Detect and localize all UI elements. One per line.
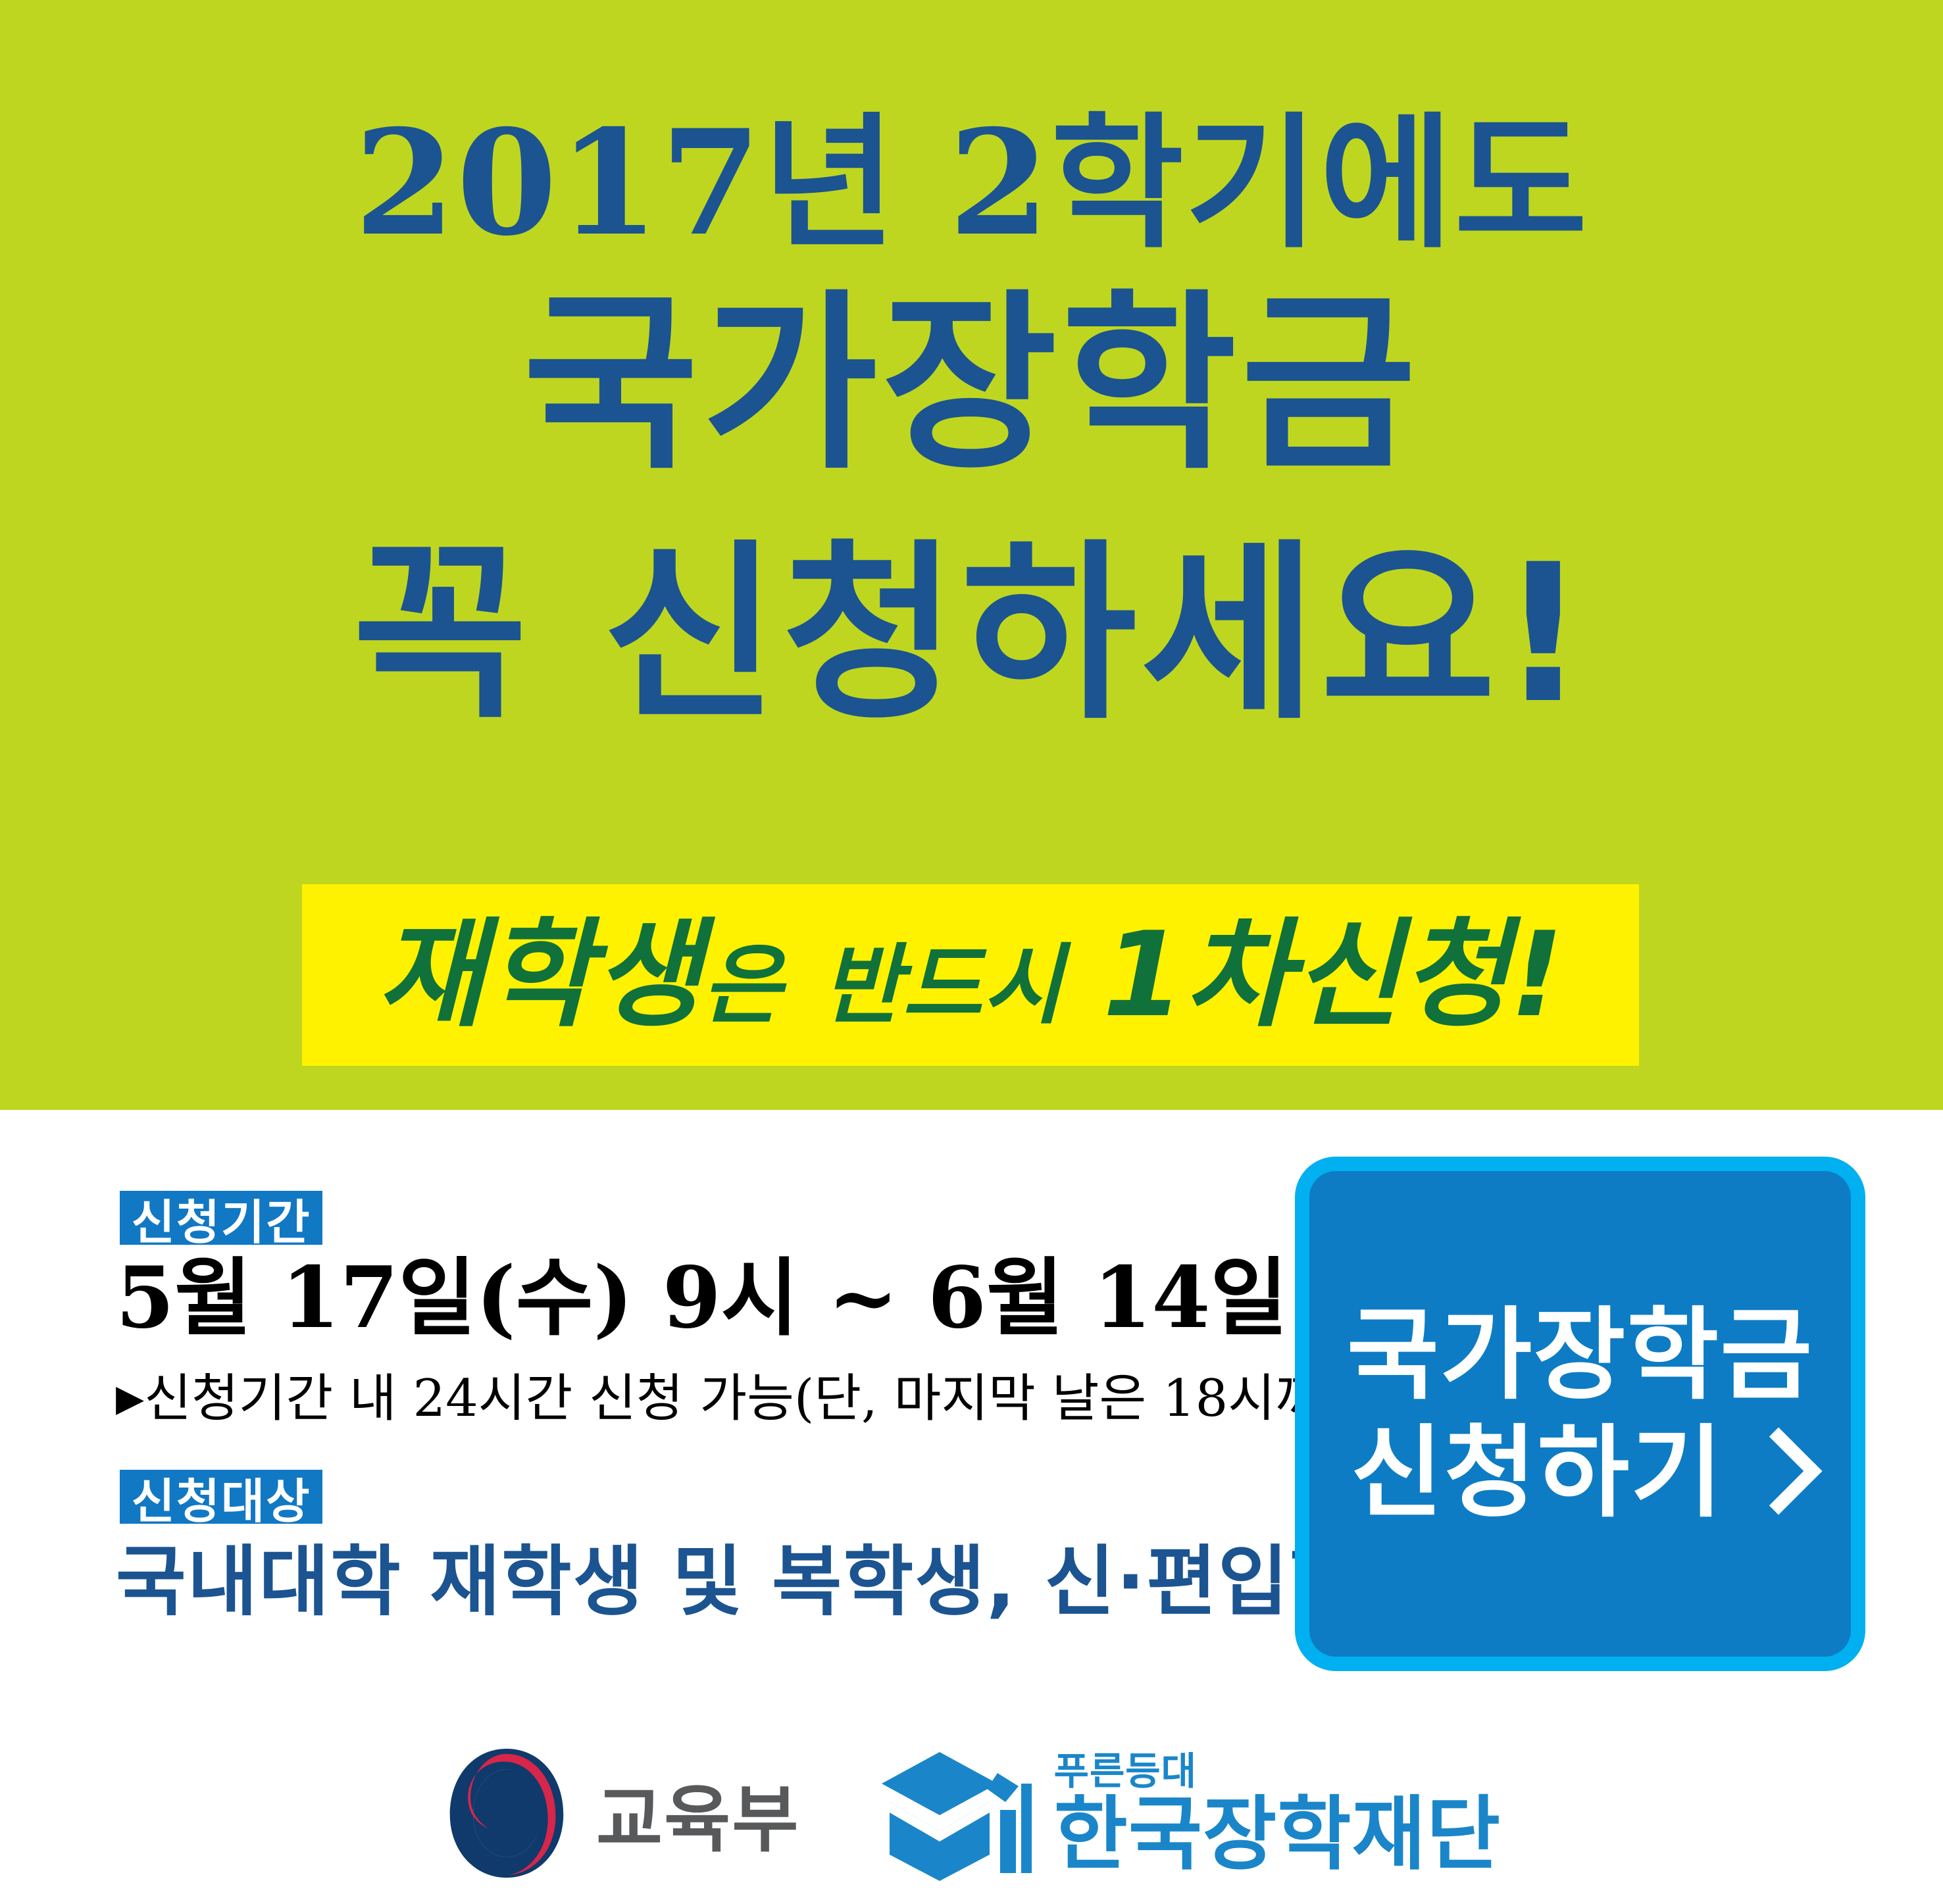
highlight-part-2: 은 (702, 935, 782, 1036)
kosaf-logo: 푸른등대 한국장학재단 (879, 1744, 1501, 1882)
hero-title-line-1: 국가장학금 (0, 289, 1943, 480)
graduation-cap-lighthouse-icon (879, 1744, 1037, 1882)
highlight-part-3: 반드시 (822, 935, 1063, 1036)
apply-button-label: 신청하기 (1351, 1414, 1724, 1532)
application-target-badge: 신청대상 (120, 1470, 322, 1524)
ministry-of-education-name: 교육부 (596, 1761, 800, 1866)
hero-banner: 2017년 2학기에도 국가장학금 꼭 신청하세요! 재학생은 반드시 1차신청… (0, 0, 1943, 1110)
triangle-bullet-icon: ▶ (116, 1377, 144, 1420)
hero-kicker: 2017년 2학기에도 (0, 111, 1943, 255)
highlight-text: 재학생은 반드시 1차신청! (377, 916, 1564, 1034)
korea-government-taegeuk-emblem (442, 1743, 571, 1883)
application-period-note: ▶신청기간 내 24시간 신청 가능(단, 마지막 날은 18시까지) (116, 1373, 1390, 1424)
application-period-note-text: 신청기간 내 24시간 신청 가능(단, 마지막 날은 18시까지) (144, 1369, 1390, 1428)
highlight-part-4: 1차신청! (1103, 907, 1564, 1043)
info-section: 신청기간 5월 17일(수) 9시 ~ 6월 14일(수) 18시 ▶신청기간 … (0, 1110, 1943, 1904)
application-period-badge: 신청기간 (120, 1191, 322, 1245)
scholarship-announcement-poster: 2017년 2학기에도 국가장학금 꼭 신청하세요! 재학생은 반드시 1차신청… (0, 0, 1943, 1904)
hero-title-line-2: 꼭 신청하세요! (0, 539, 1943, 730)
ministry-of-education-logo: 교육부 (442, 1743, 800, 1883)
apply-scholarship-button[interactable]: 국가장학금 신청하기 (1295, 1157, 1865, 1671)
kosaf-name: 한국장학재단 (1054, 1794, 1501, 1874)
highlight-part-1: 재학생 (377, 907, 702, 1043)
footer-logos: 교육부 푸른등대 한국장학재단 (0, 1722, 1943, 1904)
highlight-banner: 재학생은 반드시 1차신청! (302, 884, 1639, 1066)
chevron-right-icon (1735, 1427, 1823, 1515)
kosaf-wordmark: 푸른등대 한국장학재단 (1054, 1752, 1501, 1874)
application-target-description: 국내대학 재학생 및 복학생, 신·편입학생 (116, 1544, 1432, 1620)
apply-button-line-1: 국가장학금 (1347, 1296, 1813, 1414)
apply-button-line-2: 신청하기 (1351, 1414, 1809, 1532)
kosaf-tagline: 푸른등대 (1054, 1752, 1197, 1790)
